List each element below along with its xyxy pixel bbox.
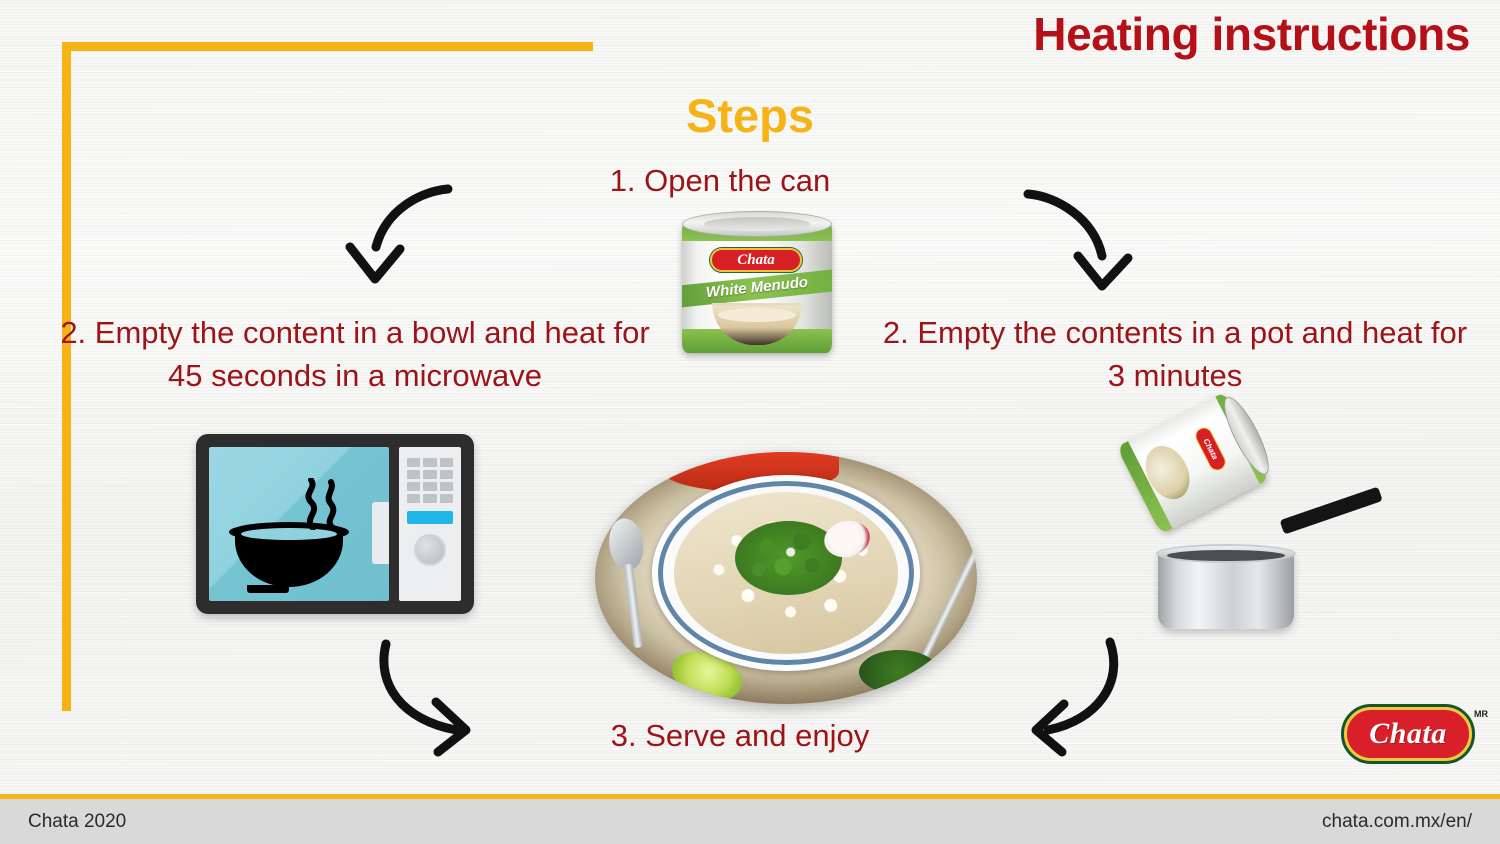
trademark-mark: MR [1474, 709, 1488, 719]
curved-arrow-down-left-icon [1000, 620, 1140, 750]
slide-canvas: Heating instructions Steps 1. Open the c… [0, 0, 1500, 844]
tilted-can-icon: Chata [1116, 392, 1269, 535]
bowl-icon [235, 531, 343, 587]
can-brand-label: Chata [710, 248, 802, 272]
microwave-display [407, 511, 453, 524]
curved-arrow-down-right-icon [1020, 180, 1148, 300]
curved-arrow-down-left-icon [330, 175, 458, 295]
spoon-icon [606, 516, 656, 649]
footer-copyright: Chata 2020 [28, 811, 126, 833]
chata-logo-text: Chata [1369, 717, 1447, 751]
saucepan-rim [1156, 544, 1296, 563]
fork-icon [921, 548, 977, 659]
step-2-microwave-label: 2. Empty the content in a bowl and heat … [55, 312, 655, 398]
curved-arrow-down-right-icon [360, 630, 500, 750]
frame-accent-top [62, 42, 593, 51]
footer-bar: Chata 2020 chata.com.mx/en/ [0, 794, 1500, 844]
microwave-door-handle [372, 502, 389, 564]
footer-website[interactable]: chata.com.mx/en/ [1322, 811, 1472, 833]
step-1-label: 1. Open the can [500, 160, 940, 203]
microwave-keypad [407, 458, 453, 503]
step-3-label: 3. Serve and enjoy [520, 715, 960, 758]
page-title: Heating instructions [1033, 7, 1470, 61]
saucepan-icon: Chata [1130, 408, 1420, 642]
food-can-icon: Chata White Menudo [674, 203, 840, 359]
chata-logo: Chata MR [1344, 707, 1472, 761]
steam-icon [301, 478, 347, 535]
microwave-window [209, 447, 389, 601]
microwave-knob [414, 534, 446, 566]
step-2-pot-label: 2. Empty the contents in a pot and heat … [880, 312, 1470, 398]
soup-bowl-photo [595, 452, 977, 704]
microwave-icon [196, 434, 474, 614]
saucepan-handle [1280, 487, 1383, 535]
section-heading: Steps [0, 88, 1500, 143]
tilted-can-brand-label: Chata [1193, 425, 1229, 474]
microwave-control-panel [399, 447, 461, 601]
